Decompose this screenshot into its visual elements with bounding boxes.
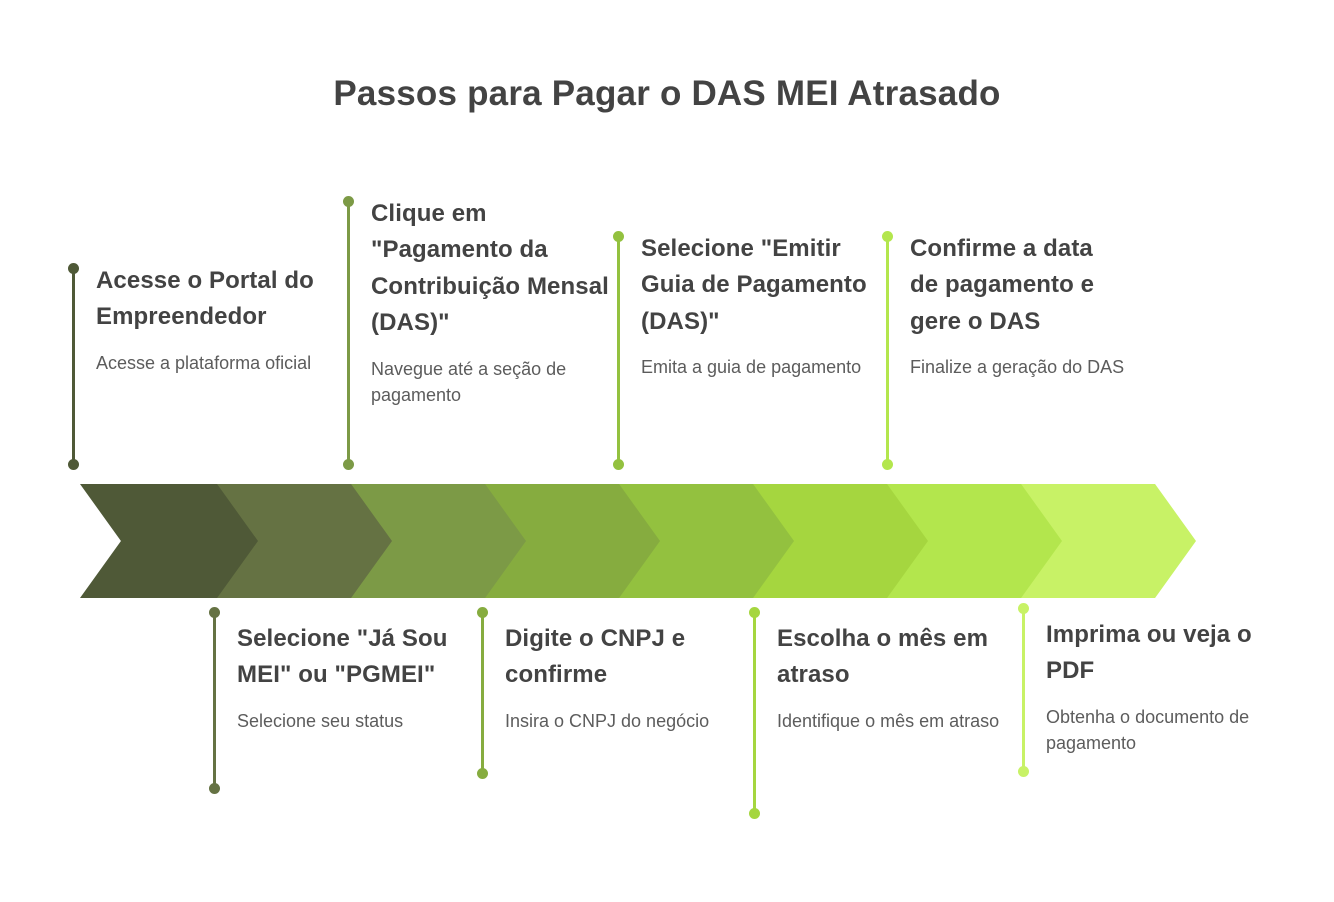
connector-dot-top-7 — [882, 231, 893, 242]
step-connector-3 — [347, 196, 350, 470]
chevron-band — [0, 484, 1334, 598]
step-caption-5: Emita a guia de pagamento — [641, 354, 881, 380]
step-caption-1: Acesse a plataforma oficial — [96, 350, 336, 376]
connector-dot-bot-2 — [209, 783, 220, 794]
step-text-8: Imprima ou veja o PDFObtenha o documento… — [1046, 617, 1296, 756]
step-text-7: Confirme a data de pagamento e gere o DA… — [910, 231, 1125, 381]
step-title-7: Confirme a data de pagamento e gere o DA… — [910, 231, 1125, 340]
step-caption-3: Navegue até a seção de pagamento — [371, 356, 611, 408]
connector-dot-top-8 — [1018, 603, 1029, 614]
step-text-1: Acesse o Portal do EmpreendedorAcesse a … — [96, 263, 336, 376]
step-text-3: Clique em "Pagamento da Contribuição Men… — [371, 196, 611, 408]
step-text-2: Selecione "Já Sou MEI" ou "PGMEI"Selecio… — [237, 621, 477, 734]
step-caption-7: Finalize a geração do DAS — [910, 354, 1125, 380]
step-connector-1 — [72, 263, 75, 470]
connector-dot-bot-5 — [613, 459, 624, 470]
step-title-5: Selecione "Emitir Guia de Pagamento (DAS… — [641, 231, 881, 340]
connector-dot-bot-6 — [749, 808, 760, 819]
step-title-8: Imprima ou veja o PDF — [1046, 617, 1296, 690]
connector-dot-bot-4 — [477, 768, 488, 779]
step-caption-2: Selecione seu status — [237, 708, 477, 734]
connector-line-3 — [347, 202, 350, 464]
step-caption-6: Identifique o mês em atraso — [777, 708, 1017, 734]
step-connector-6 — [753, 607, 756, 819]
step-connector-8 — [1022, 603, 1025, 777]
connector-line-4 — [481, 613, 484, 773]
step-text-4: Digite o CNPJ e confirmeInsira o CNPJ do… — [505, 621, 755, 734]
step-title-1: Acesse o Portal do Empreendedor — [96, 263, 336, 336]
connector-line-6 — [753, 613, 756, 813]
step-title-2: Selecione "Já Sou MEI" ou "PGMEI" — [237, 621, 477, 694]
connector-line-5 — [617, 237, 620, 464]
step-title-6: Escolha o mês em atraso — [777, 621, 1017, 694]
step-connector-7 — [886, 231, 889, 470]
connector-dot-top-1 — [68, 263, 79, 274]
page-title: Passos para Pagar o DAS MEI Atrasado — [0, 74, 1334, 114]
step-connector-5 — [617, 231, 620, 470]
connector-dot-bot-7 — [882, 459, 893, 470]
step-text-5: Selecione "Emitir Guia de Pagamento (DAS… — [641, 231, 881, 381]
connector-dot-bot-8 — [1018, 766, 1029, 777]
step-caption-8: Obtenha o documento de pagamento — [1046, 704, 1296, 756]
connector-dot-top-3 — [343, 196, 354, 207]
step-text-6: Escolha o mês em atrasoIdentifique o mês… — [777, 621, 1017, 734]
connector-dot-top-4 — [477, 607, 488, 618]
connector-line-1 — [72, 269, 75, 464]
connector-dot-bot-1 — [68, 459, 79, 470]
step-title-4: Digite o CNPJ e confirme — [505, 621, 755, 694]
step-caption-4: Insira o CNPJ do negócio — [505, 708, 755, 734]
step-title-3: Clique em "Pagamento da Contribuição Men… — [371, 196, 611, 342]
connector-line-8 — [1022, 609, 1025, 771]
connector-dot-top-2 — [209, 607, 220, 618]
infographic-canvas: Passos para Pagar o DAS MEI Atrasado Ace… — [0, 0, 1334, 902]
connector-dot-bot-3 — [343, 459, 354, 470]
connector-line-2 — [213, 613, 216, 788]
connector-dot-top-5 — [613, 231, 624, 242]
step-connector-4 — [481, 607, 484, 779]
connector-line-7 — [886, 237, 889, 464]
connector-dot-top-6 — [749, 607, 760, 618]
step-connector-2 — [213, 607, 216, 794]
